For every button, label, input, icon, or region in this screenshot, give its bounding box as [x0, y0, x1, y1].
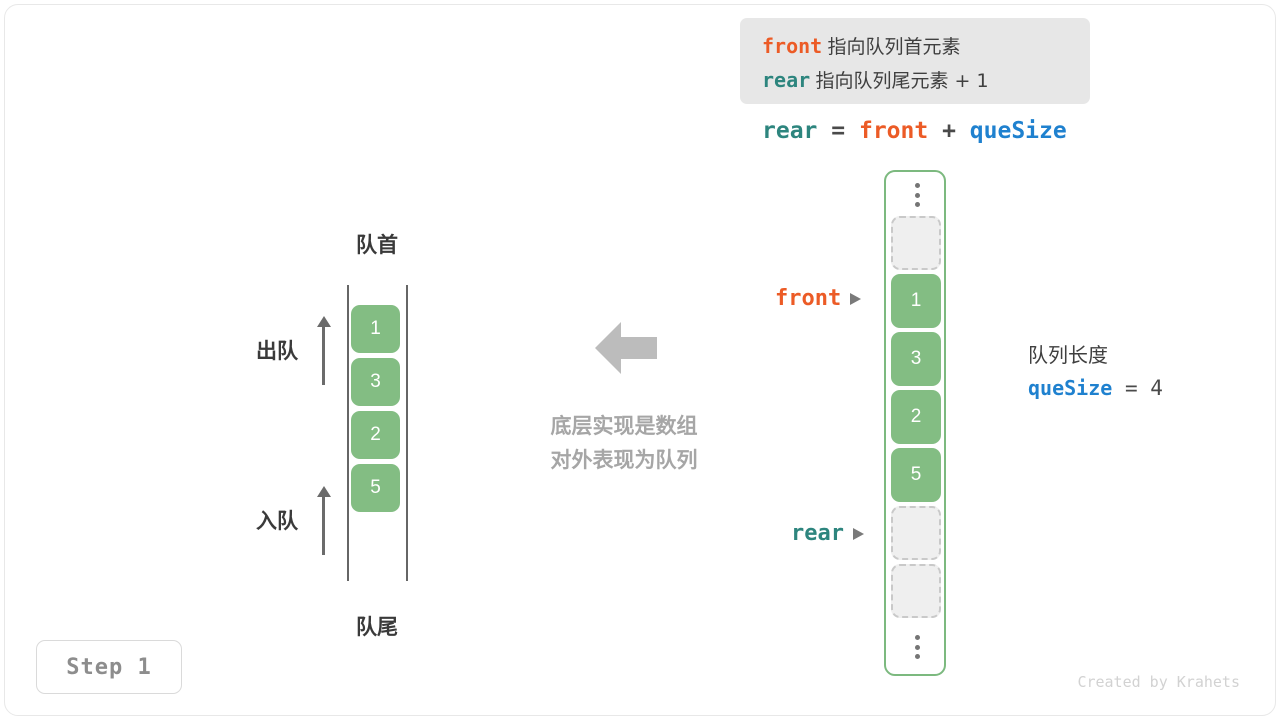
center-caption-line2: 对外表现为队列	[504, 444, 744, 478]
center-caption: 底层实现是数组 对外表现为队列	[504, 410, 744, 478]
queue-cell-0[interactable]: 1	[351, 305, 400, 353]
queue-size-title: 队列长度	[1028, 341, 1163, 371]
queue-tail-label: 队尾	[317, 611, 437, 641]
queue-size-var: queSize	[1028, 376, 1112, 400]
array-cell-4[interactable]: 5	[891, 448, 941, 502]
dot	[915, 183, 920, 188]
dot	[915, 635, 920, 640]
array-cell-2[interactable]: 3	[891, 332, 941, 386]
legend-desc-rear: 指向队列尾元素 + 1	[815, 70, 988, 92]
array-cell-value: 3	[911, 348, 922, 370]
array-cell-value: 1	[911, 290, 922, 312]
formula-equals: =	[831, 118, 845, 144]
left-arrow-icon	[595, 320, 657, 376]
dot	[915, 193, 920, 198]
array-container: 1 3 2 5	[884, 170, 946, 676]
pointer-arrow-icon	[853, 528, 864, 540]
step-badge: Step 1	[36, 640, 182, 694]
dot	[915, 654, 920, 659]
array-cell-value: 5	[911, 464, 922, 486]
legend-line-rear: rear 指向队列尾元素 + 1	[762, 63, 1090, 97]
pointer-front-label: front	[775, 286, 841, 311]
arrow-head	[317, 486, 331, 497]
array-cell-empty-2[interactable]	[891, 564, 941, 618]
arrow-head	[317, 316, 331, 327]
queue-cell-value: 2	[370, 424, 381, 446]
legend-term-rear: rear	[762, 68, 810, 92]
array-cell-3[interactable]: 2	[891, 390, 941, 444]
dequeue-label: 出队	[256, 335, 298, 365]
enqueue-arrow-icon	[315, 486, 333, 546]
pointer-rear: rear	[791, 521, 864, 546]
legend-line-front: front 指向队列首元素	[762, 29, 1090, 63]
dot	[915, 202, 920, 207]
pointer-front: front	[775, 286, 861, 311]
ellipsis-top	[886, 180, 948, 210]
array-cell-empty-1[interactable]	[891, 506, 941, 560]
legend-desc-front: 指向队列首元素	[828, 36, 961, 58]
formula-front: front	[859, 118, 928, 144]
queue-size-expression: queSize = 4	[1028, 371, 1163, 405]
queue-cell-value: 1	[370, 318, 381, 340]
array-cell-value: 2	[911, 406, 922, 428]
pointer-rear-label: rear	[791, 521, 844, 546]
dot	[915, 645, 920, 650]
queue-size-value: 4	[1150, 376, 1163, 400]
queue-cell-3[interactable]: 5	[351, 464, 400, 512]
step-badge-label: Step 1	[66, 655, 151, 680]
formula-plus: +	[942, 118, 956, 144]
queue-size-equals: =	[1125, 376, 1138, 400]
rear-formula: rear = front + queSize	[762, 118, 1067, 144]
pointer-arrow-icon	[850, 293, 861, 305]
ellipsis-bottom	[886, 632, 948, 662]
formula-lhs: rear	[762, 118, 817, 144]
queue-cell-value: 3	[370, 371, 381, 393]
queue-cell-1[interactable]: 3	[351, 358, 400, 406]
diagram-canvas: front 指向队列首元素 rear 指向队列尾元素 + 1 rear = fr…	[0, 0, 1280, 720]
queue-rail-left	[347, 285, 349, 581]
credit-text: Created by Krahets	[1077, 673, 1240, 691]
array-cell-empty-0[interactable]	[891, 216, 941, 270]
queue-size-note: 队列长度 queSize = 4	[1028, 341, 1163, 405]
pointer-legend-box: front 指向队列首元素 rear 指向队列尾元素 + 1	[740, 18, 1090, 104]
arrow-shaft	[322, 325, 325, 385]
center-caption-line1: 底层实现是数组	[504, 410, 744, 444]
queue-cell-value: 5	[370, 477, 381, 499]
queue-head-label: 队首	[317, 229, 437, 259]
arrow-shaft	[322, 495, 325, 555]
array-cell-1[interactable]: 1	[891, 274, 941, 328]
queue-cell-2[interactable]: 2	[351, 411, 400, 459]
queue-rail-right	[406, 285, 408, 581]
dequeue-arrow-icon	[315, 316, 333, 376]
enqueue-label: 入队	[256, 505, 298, 535]
formula-quesize: queSize	[970, 118, 1067, 144]
legend-term-front: front	[762, 34, 822, 58]
